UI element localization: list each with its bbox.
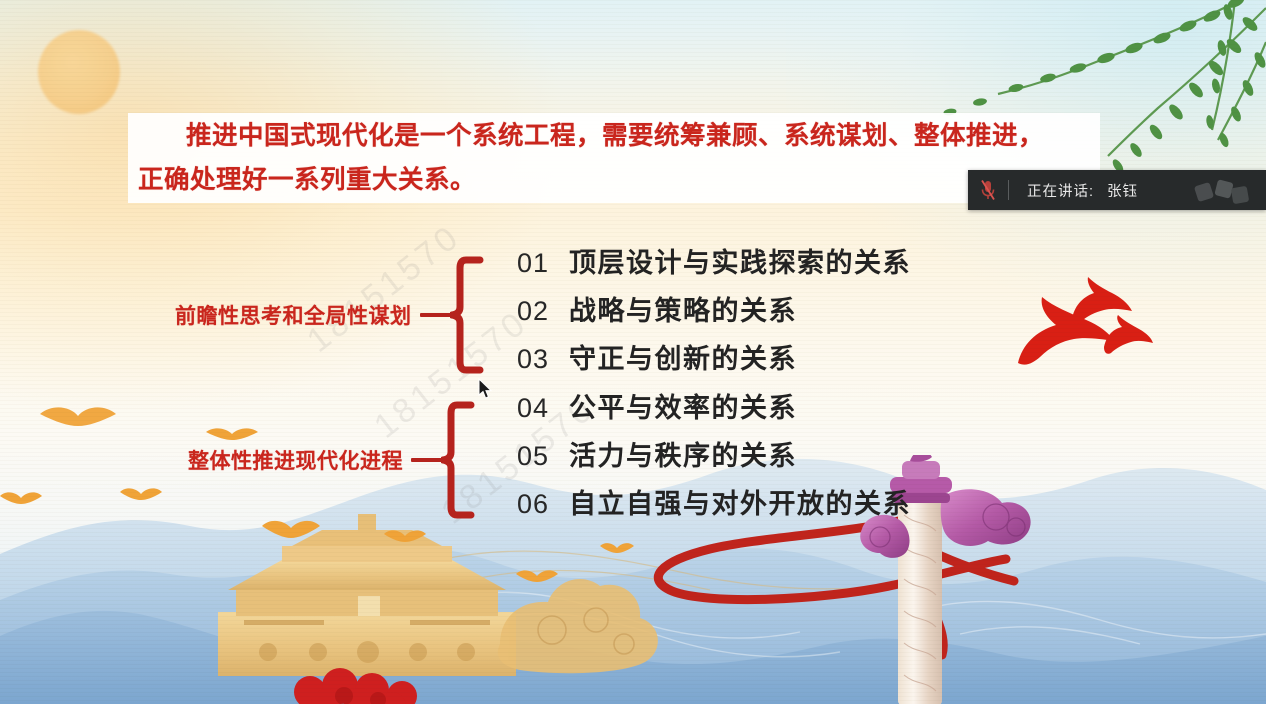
speaker-name: 张钰: [1099, 184, 1138, 200]
microphone-muted-icon[interactable]: [968, 179, 1008, 201]
list-item-number: 06: [517, 489, 569, 520]
speaker-status-label: 正在讲话:: [1027, 184, 1094, 200]
list-item: 03 守正与创新的关系: [517, 337, 911, 385]
list-item-text: 战略与策略的关系: [569, 289, 797, 328]
slide-title-line-2: 正确处理好一系列重大关系。: [138, 158, 1090, 202]
group-2-items: 04 公平与效率的关系 05 活力与秩序的关系 06 自立自强与对外开放的关系: [517, 386, 911, 530]
list-item-text: 守正与创新的关系: [569, 337, 797, 376]
group-1-stem: [420, 313, 452, 317]
app-logo-watermark-icon: [1194, 178, 1250, 204]
list-item-number: 03: [517, 344, 569, 375]
list-item-text: 顶层设计与实践探索的关系: [569, 241, 911, 280]
list-item: 01 顶层设计与实践探索的关系: [517, 241, 911, 289]
list-item-text: 自立自强与对外开放的关系: [569, 482, 911, 521]
group-1: 前瞻性思考和全局性谋划: [175, 255, 484, 375]
slide-content: 前瞻性思考和全局性谋划 整体性推进现代化进程 01 顶层设计与实践探索的关系 0…: [0, 235, 1266, 545]
slide-title-line-1: 推进中国式现代化是一个系统工程，需要统筹兼顾、系统谋划、整体推进，: [138, 114, 1090, 158]
list-item-number: 04: [517, 393, 569, 424]
list-item: 06 自立自强与对外开放的关系: [517, 482, 911, 530]
list-item: 04 公平与效率的关系: [517, 386, 911, 434]
list-item-text: 公平与效率的关系: [569, 386, 797, 425]
slide-title-box: 推进中国式现代化是一个系统工程，需要统筹兼顾、系统谋划、整体推进， 正确处理好一…: [128, 113, 1100, 203]
active-speaker-bar[interactable]: 正在讲话: 张钰: [968, 170, 1266, 210]
mouse-cursor: [478, 378, 494, 400]
screen-share-slide: 18151570 18151570 18151570 推进中国式现代化是一个系统…: [0, 0, 1266, 704]
group-2-label: 整体性推进现代化进程: [188, 445, 403, 475]
group-2: 整体性推进现代化进程: [188, 400, 475, 520]
list-item: 02 战略与策略的关系: [517, 289, 911, 337]
list-item-text: 活力与秩序的关系: [569, 434, 797, 473]
group-1-items: 01 顶层设计与实践探索的关系 02 战略与策略的关系 03 守正与创新的关系: [517, 241, 911, 385]
speaker-status-text: 正在讲话: 张钰: [1009, 180, 1138, 201]
curly-brace-icon: [450, 255, 484, 375]
list-item-number: 05: [517, 441, 569, 472]
list-item-number: 02: [517, 296, 569, 327]
list-item-number: 01: [517, 248, 569, 279]
group-1-label: 前瞻性思考和全局性谋划: [175, 300, 412, 330]
group-2-stem: [411, 458, 443, 462]
list-item: 05 活力与秩序的关系: [517, 434, 911, 482]
curly-brace-icon: [441, 400, 475, 520]
